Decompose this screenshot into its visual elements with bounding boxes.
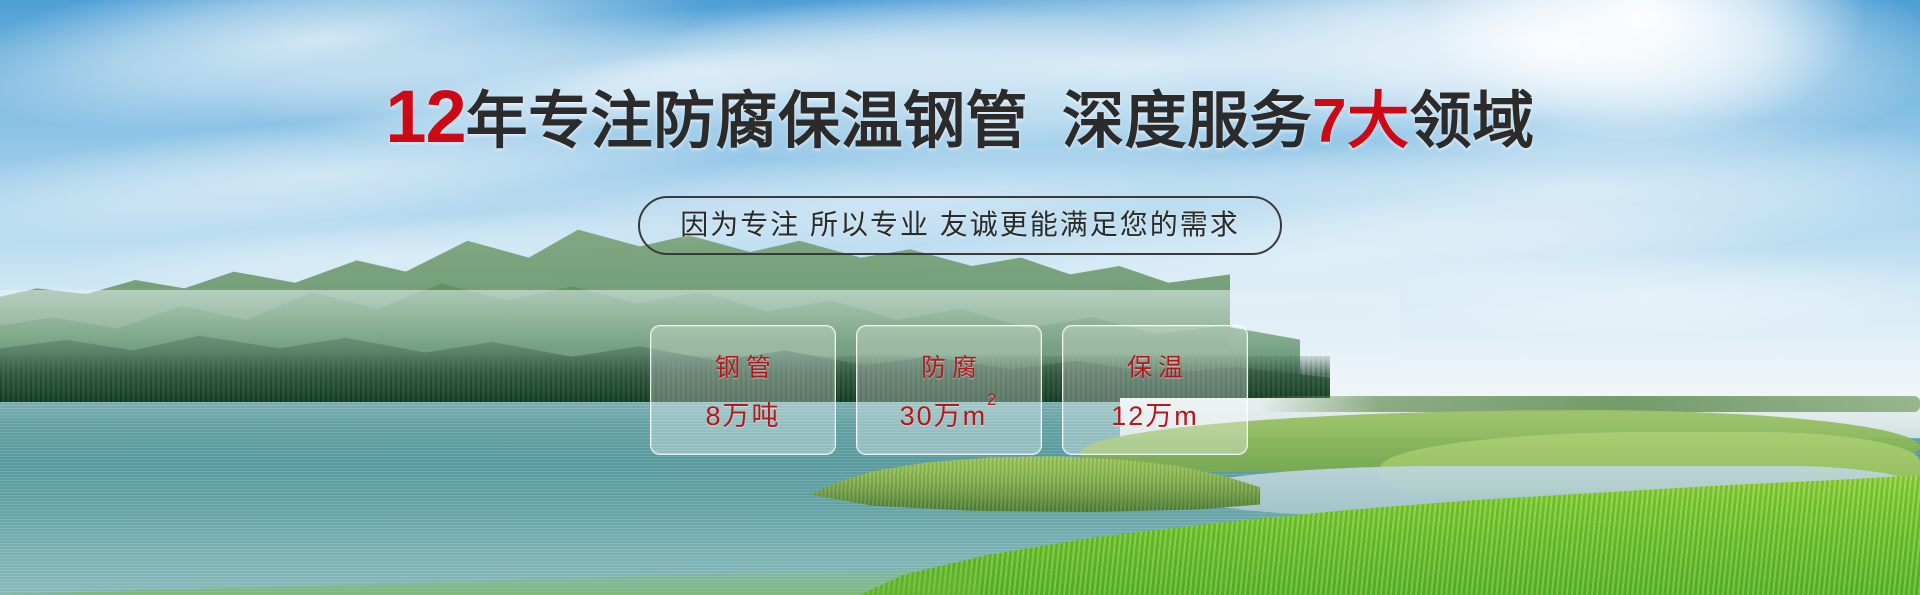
stat-card-value: 30万m2 [900, 394, 999, 433]
banner-content: 12年专注防腐保温钢管深度服务7大领域 因为专注 所以专业 友诚更能满足您的需求… [0, 0, 1920, 595]
stat-card-anticorrosion[interactable]: 防腐 30万m2 [856, 325, 1042, 455]
subline-pill: 因为专注 所以专业 友诚更能满足您的需求 [638, 196, 1282, 255]
headline-service-suffix: 领域 [1410, 87, 1535, 156]
stat-card-title: 钢管 [709, 348, 777, 384]
stat-card-steel-pipe[interactable]: 钢管 8万吨 [650, 325, 836, 455]
headline: 12年专注防腐保温钢管深度服务7大领域 [0, 80, 1920, 154]
stat-card-value-text: 8万吨 [705, 401, 780, 431]
headline-main-text: 年专注防腐保温钢管 [466, 87, 1029, 156]
stat-card-value: 8万吨 [705, 394, 780, 433]
stat-card-value-text: 30万m [900, 401, 988, 431]
stat-card-group: 钢管 8万吨 防腐 30万m2 保温 12万m [650, 325, 1248, 455]
stat-card-value: 12万m [1111, 394, 1199, 433]
stat-card-value-superscript: 2 [987, 390, 998, 409]
headline-service-prefix: 深度服务 [1062, 87, 1312, 156]
headline-seven-fields: 7大 [1312, 87, 1409, 156]
stat-card-title: 保温 [1121, 348, 1189, 384]
hero-banner: 12年专注防腐保温钢管深度服务7大领域 因为专注 所以专业 友诚更能满足您的需求… [0, 0, 1920, 595]
stat-card-title: 防腐 [915, 348, 983, 384]
stat-card-insulation[interactable]: 保温 12万m [1062, 325, 1248, 455]
subline-container: 因为专注 所以专业 友诚更能满足您的需求 [0, 196, 1920, 255]
headline-years-number: 12 [385, 75, 465, 158]
stat-card-value-text: 12万m [1111, 401, 1199, 431]
